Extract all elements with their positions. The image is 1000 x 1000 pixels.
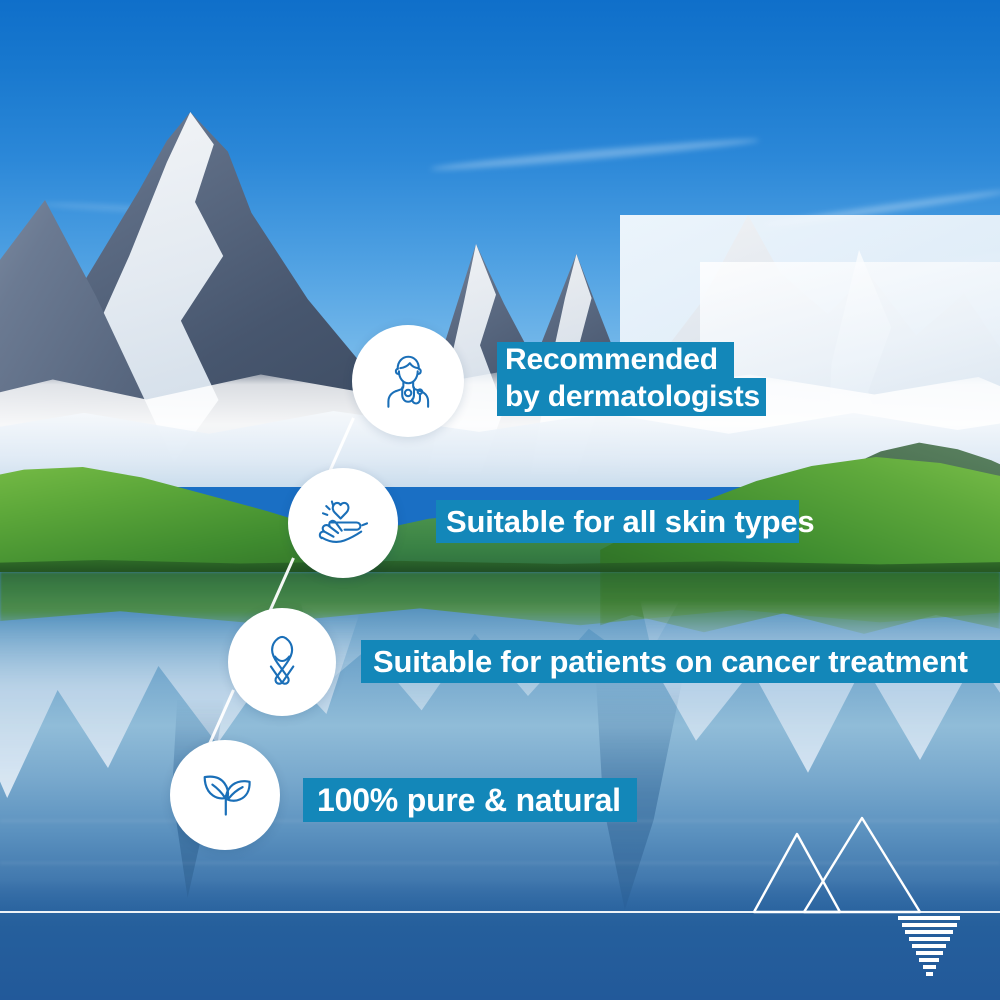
- logo-funnel-icon: [898, 916, 960, 966]
- awareness-ribbon-icon: [249, 629, 315, 695]
- benefit-text-pure-natural: 100% pure & natural: [317, 782, 621, 819]
- benefit-icon-circle-skin-types[interactable]: [288, 468, 398, 578]
- hand-heart-icon: [309, 489, 377, 557]
- benefit-icon-circle-cancer-treatment[interactable]: [228, 608, 336, 716]
- mountain-funnel-logo[interactable]: [744, 812, 950, 916]
- benefit-text-dermatologists-line1: Recommended: [505, 343, 718, 377]
- benefit-bar-pure-natural: 100% pure & natural: [303, 778, 637, 822]
- doctor-stethoscope-icon: [375, 348, 441, 414]
- benefit-bar-dermatologists-line1: Recommended: [497, 342, 734, 378]
- benefit-bar-dermatologists-line2: by dermatologists: [497, 378, 766, 416]
- benefit-icon-circle-dermatologists[interactable]: [352, 325, 464, 437]
- benefit-icon-circle-pure-natural[interactable]: [170, 740, 280, 850]
- logo-baseline: [0, 911, 1000, 913]
- banner-stage: Recommended by dermatologists Suitable f…: [0, 0, 1000, 1000]
- benefit-bar-cancer-treatment: Suitable for patients on cancer treatmen…: [361, 640, 1000, 683]
- benefit-text-skin-types: Suitable for all skin types: [446, 504, 814, 540]
- benefit-bar-skin-types: Suitable for all skin types: [436, 500, 799, 543]
- benefit-text-dermatologists-line2: by dermatologists: [505, 380, 760, 414]
- leaf-plant-icon: [192, 762, 258, 828]
- logo-peak-right: [804, 818, 920, 912]
- benefit-text-cancer-treatment: Suitable for patients on cancer treatmen…: [373, 644, 968, 680]
